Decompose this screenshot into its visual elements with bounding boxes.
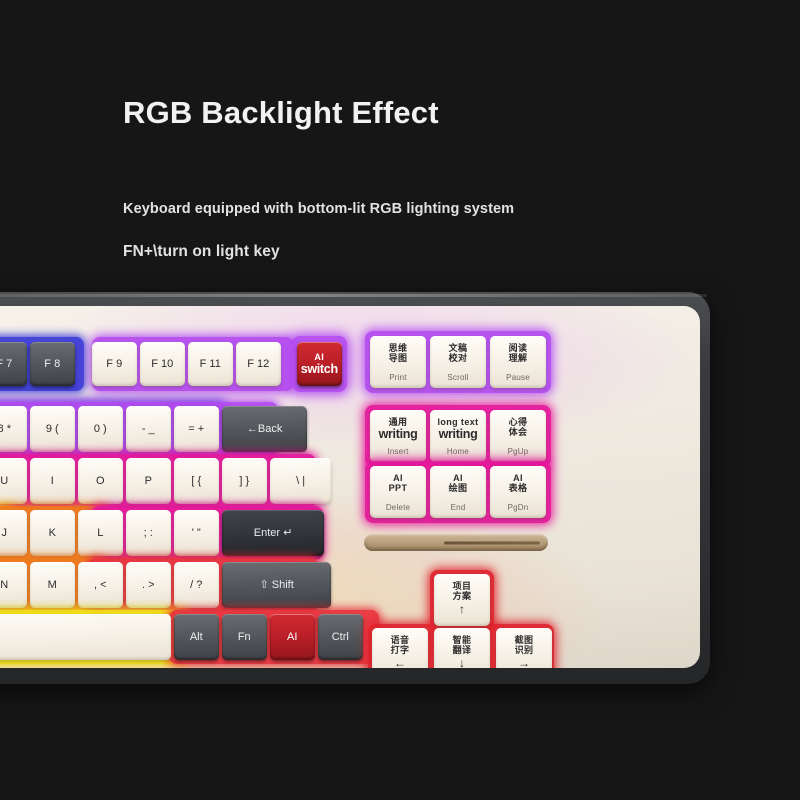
key-label-secondary: Scroll (430, 374, 486, 383)
key-enter[interactable]: Enter ↵ (222, 510, 324, 556)
key-sym5[interactable]: ; : (126, 510, 171, 556)
key-label-cn: AI绘图 (449, 473, 468, 493)
key-label-secondary: Insert (370, 448, 426, 457)
key-backspace[interactable]: ←Back (222, 406, 307, 452)
key-label: 8 * (0, 423, 11, 435)
key-label: 9 ( (46, 423, 59, 435)
key-sym6[interactable]: / ? (174, 562, 219, 608)
key-f12[interactable]: F 12 (236, 342, 281, 386)
headline-block: RGB Backlight Effect Keyboard equipped w… (123, 95, 743, 261)
key-arrow-up[interactable]: 项目方案↑ (434, 574, 490, 626)
key-label-secondary: Home (430, 448, 486, 457)
subtitle-fn-shortcut: FN+\turn on light key (123, 243, 743, 261)
key-label: I (51, 475, 54, 487)
key-label: F 11 (200, 358, 221, 370)
key-label-cn: 阅读理解 (509, 343, 528, 363)
key-n[interactable]: N (0, 562, 27, 608)
key-m[interactable]: M (30, 562, 75, 608)
key-label-cn: 截图识别 (515, 635, 534, 655)
key-label: P (145, 475, 152, 487)
key-label-cn: AIPPT (389, 473, 408, 493)
key-[interactable]: \ | (270, 458, 331, 504)
key-label: F 9 (106, 358, 122, 370)
key-label: . > (142, 579, 155, 591)
key-label: Fn (238, 631, 251, 643)
key-label-cn: AI (314, 352, 324, 362)
key-label-cn: long text (437, 417, 478, 427)
key-k[interactable]: K (30, 510, 75, 556)
key-label-secondary: PgDn (490, 504, 546, 513)
key-num6[interactable]: = + (174, 406, 219, 452)
key-macro-row_3-0[interactable]: AIPPTDelete (370, 466, 426, 518)
key-macro-row_1-2[interactable]: 阅读理解Pause (490, 336, 546, 388)
key-label: F 12 (247, 358, 269, 370)
key-macro-row_2-2[interactable]: 心得体会PgUp (490, 410, 546, 462)
subtitle-lighting-system: Keyboard equipped with bottom-lit RGB li… (123, 201, 743, 217)
key-label-main: writing (379, 427, 418, 441)
key-label-secondary: Pause (490, 374, 546, 383)
key-label-cn: 通用 (389, 417, 408, 427)
key-label-secondary: End (430, 504, 486, 513)
key-f10[interactable]: F 10 (140, 342, 185, 386)
key-ctrl[interactable]: Ctrl (318, 614, 363, 660)
key-macro-row_1-0[interactable]: 思维导图Print (370, 336, 426, 388)
key-label: ] } (239, 475, 249, 487)
key-f9[interactable]: F 9 (92, 342, 137, 386)
key-arrow-right[interactable]: 截图识别→ (496, 628, 552, 668)
key-macro-row_3-2[interactable]: AI表格PgDn (490, 466, 546, 518)
key-label: U (0, 475, 8, 487)
key-j[interactable]: J (0, 510, 27, 556)
key-spacebar[interactable] (0, 614, 171, 660)
key-f11[interactable]: F 11 (188, 342, 233, 386)
key-label: ' " (192, 527, 201, 539)
key-label: L (97, 527, 103, 539)
key-alt[interactable]: Alt (174, 614, 219, 660)
key-f8[interactable]: F 8 (30, 342, 75, 386)
key-label: [ { (191, 475, 201, 487)
key-macro-row_2-1[interactable]: long textwritingHome (430, 410, 486, 462)
key-f7[interactable]: F 7 (0, 342, 27, 386)
key-sym4[interactable]: , < (78, 562, 123, 608)
key-label: = + (188, 423, 204, 435)
key-shift[interactable]: ⇧ Shift (222, 562, 331, 608)
key-label-secondary: Print (370, 374, 426, 383)
page-title: RGB Backlight Effect (123, 95, 743, 131)
key-num4[interactable]: 0 ) (78, 406, 123, 452)
keyboard-plate: F 5F 6F 7F 8F 9F 10F 11F 12AIswitch思维导图P… (0, 306, 700, 668)
key-label: F 8 (44, 358, 60, 370)
key-label: ←Back (247, 423, 282, 435)
key-label: K (49, 527, 56, 539)
key-label: , < (94, 579, 107, 591)
key-label: - _ (142, 423, 155, 435)
key-label-cn: 思维导图 (389, 343, 408, 363)
key-label: F 10 (151, 358, 173, 370)
key-label-cn: 心得体会 (509, 417, 528, 437)
key-label: J (2, 527, 8, 539)
key-label-main: switch (301, 362, 338, 376)
key-label: AI (287, 631, 297, 643)
key-ai-switch[interactable]: AIswitch (297, 342, 342, 386)
key-label: ⇧ Shift (260, 579, 294, 591)
key-label-main: writing (439, 427, 478, 441)
key-p[interactable]: P (126, 458, 171, 504)
key-l[interactable]: L (78, 510, 123, 556)
key-label: Ctrl (332, 631, 349, 643)
key-label: / ? (190, 579, 202, 591)
key-label: O (96, 475, 105, 487)
key-label-cn: 语音打字 (391, 635, 410, 655)
key-label: N (0, 579, 8, 591)
key-label: Alt (190, 631, 203, 643)
arrow-glyph: → (518, 657, 530, 668)
key-macro-row_1-1[interactable]: 文稿校对Scroll (430, 336, 486, 388)
key-label: F 7 (0, 358, 12, 370)
key-label-cn: 项目方案 (453, 581, 472, 601)
key-label-cn: AI表格 (509, 473, 528, 493)
key-label-cn: 智能翻译 (453, 635, 472, 655)
key-macro-row_3-1[interactable]: AI绘图End (430, 466, 486, 518)
key-label-cn: 文稿校对 (449, 343, 468, 363)
key-macro-row_2-0[interactable]: 通用writingInsert (370, 410, 426, 462)
key-arrow-left[interactable]: 语音打字← (372, 628, 428, 668)
key-i[interactable]: I (30, 458, 75, 504)
speaker-grille (364, 534, 548, 551)
key-sym5[interactable]: . > (126, 562, 171, 608)
key-label-secondary: PgUp (490, 448, 546, 457)
arrow-glyph: ↓ (459, 657, 465, 668)
key-ai[interactable]: AI (270, 614, 315, 660)
key-label: 0 ) (94, 423, 107, 435)
key-num2[interactable]: 8 * (0, 406, 27, 452)
key-num3[interactable]: 9 ( (30, 406, 75, 452)
arrow-glyph: ← (394, 657, 406, 668)
key-[interactable]: ] } (222, 458, 267, 504)
key-u[interactable]: U (0, 458, 27, 504)
key-[interactable]: [ { (174, 458, 219, 504)
key-o[interactable]: O (78, 458, 123, 504)
key-label-secondary: Delete (370, 504, 426, 513)
key-fn[interactable]: Fn (222, 614, 267, 660)
key-sym6[interactable]: ' " (174, 510, 219, 556)
key-num5[interactable]: - _ (126, 406, 171, 452)
keyboard: F 5F 6F 7F 8F 9F 10F 11F 12AIswitch思维导图P… (0, 292, 710, 684)
key-arrow-down[interactable]: 智能翻译↓ (434, 628, 490, 668)
key-label: ; : (144, 527, 153, 539)
arrow-glyph: ↑ (459, 603, 465, 616)
key-label: Enter ↵ (254, 527, 293, 539)
key-label: M (48, 579, 57, 591)
key-label: \ | (296, 475, 305, 487)
